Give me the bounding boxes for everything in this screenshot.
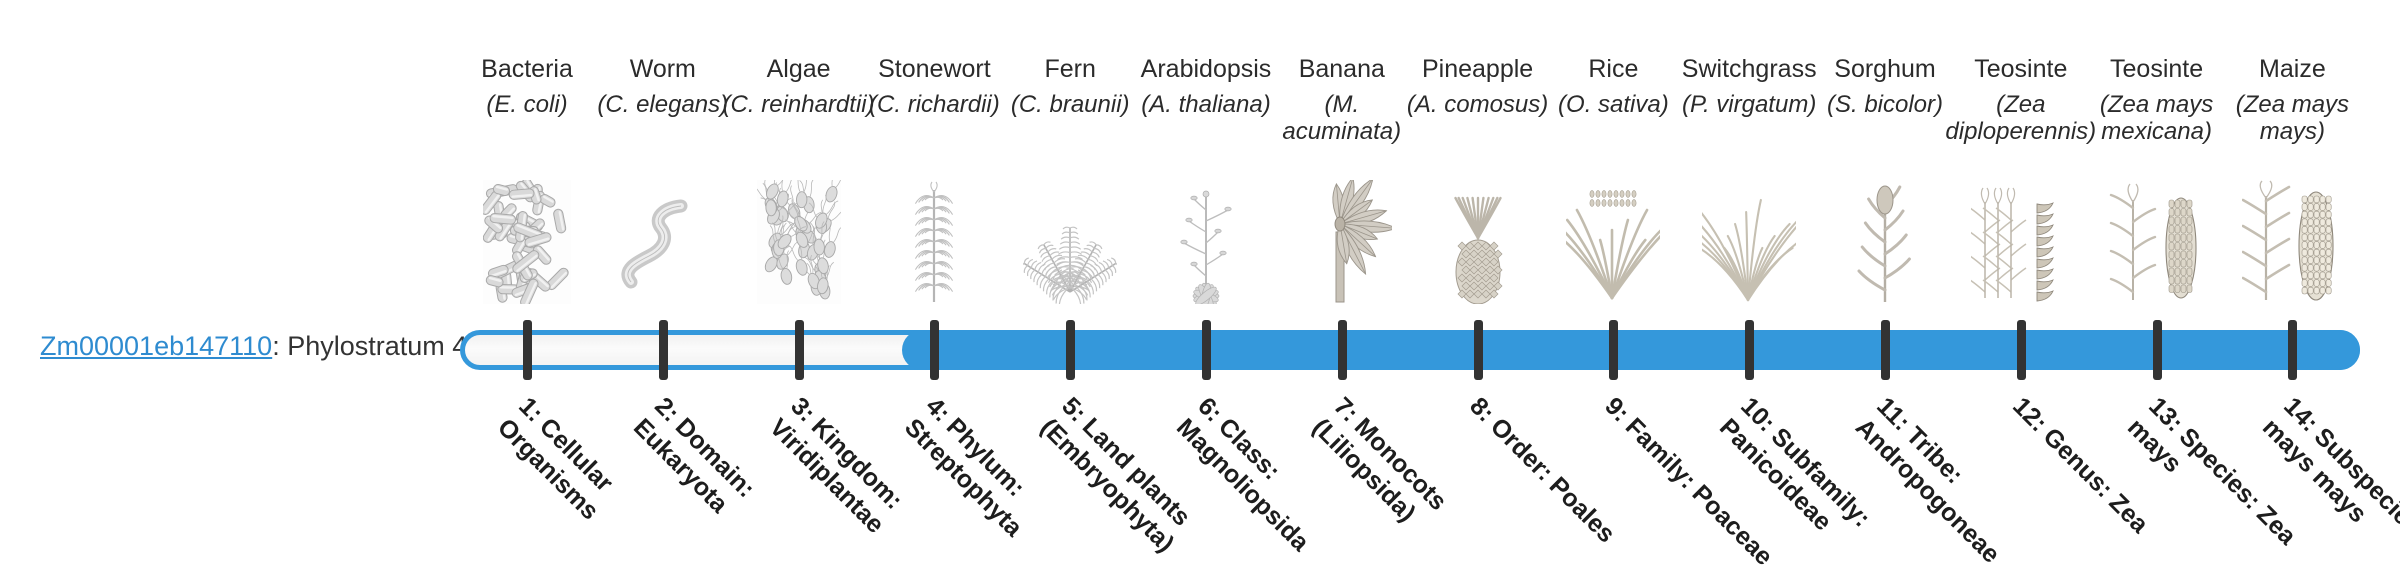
phylostratum-tick-14 <box>2288 320 2297 380</box>
phylostratum-column-7[interactable]: Banana(M. acuminata)7: Monocots (Liliops… <box>1274 0 1410 580</box>
phylostratum-column-10[interactable]: Switchgrass(P. virgatum)10: Subfamily: P… <box>1681 0 1817 580</box>
pineapple-illustration <box>1410 172 1546 304</box>
phylostratum-figure: Zm00001eb147110: Phylostratum 4 Bacteria… <box>0 0 2400 580</box>
phylostratum-columns: Bacteria(E. coli)1: Cellular OrganismsWo… <box>0 0 2400 580</box>
phylostratum-rank-label-14: 14: Subspecies: Zea mays mays <box>2257 392 2400 580</box>
phylostratum-tick-8 <box>1474 320 1483 380</box>
phylostratum-column-4[interactable]: Stonewort(C. richardii)4: Phylum: Strept… <box>866 0 1002 580</box>
phylostratum-column-14[interactable]: Maize(Zea mays mays)14: Subspecies: Zea … <box>2224 0 2360 580</box>
teosinte-mexicana-illustration <box>2089 172 2225 304</box>
arabidopsis-illustration <box>1138 172 1274 304</box>
nematode-worm-illustration <box>595 172 731 304</box>
maize-plant-and-cob-illustration <box>2224 172 2360 304</box>
phylostratum-column-8[interactable]: Pineapple(A. comosus)8: Order: Poales <box>1410 0 1546 580</box>
phylostratum-tick-12 <box>2017 320 2026 380</box>
switchgrass-illustration <box>1681 172 1817 304</box>
phylostratum-tick-2 <box>659 320 668 380</box>
phylostratum-tick-3 <box>795 320 804 380</box>
stonewort-illustration <box>866 172 1002 304</box>
phylostratum-column-6[interactable]: Arabidopsis(A. thaliana)6: Class: Magnol… <box>1138 0 1274 580</box>
teosinte-plant-and-ear-illustration <box>1953 172 2089 304</box>
rice-plant-illustration <box>1545 172 1681 304</box>
bacteria-illustration <box>459 172 595 304</box>
phylostratum-column-5[interactable]: Fern(C. braunii)5: Land plants (Embryoph… <box>1002 0 1138 580</box>
phylostratum-tick-11 <box>1881 320 1890 380</box>
banana-plant-illustration <box>1274 172 1410 304</box>
phylostratum-column-12[interactable]: Teosinte(Zea diploperennis)12: Genus: Ze… <box>1953 0 2089 580</box>
phylostratum-column-9[interactable]: Rice(O. sativa)9: Family: Poaceae <box>1545 0 1681 580</box>
phylostratum-column-3[interactable]: Algae(C. reinhardtii)3: Kingdom: Viridip… <box>731 0 867 580</box>
phylostratum-tick-10 <box>1745 320 1754 380</box>
phylostratum-tick-7 <box>1338 320 1347 380</box>
phylostratum-column-2[interactable]: Worm(C. elegans)2: Domain: Eukaryota <box>595 0 731 580</box>
phylostratum-column-13[interactable]: Teosinte(Zea mays mexicana)13: Species: … <box>2089 0 2225 580</box>
phylostratum-tick-5 <box>1066 320 1075 380</box>
green-algae-illustration <box>731 172 867 304</box>
phylostratum-tick-13 <box>2153 320 2162 380</box>
phylostratum-tick-1 <box>523 320 532 380</box>
phylostratum-column-1[interactable]: Bacteria(E. coli)1: Cellular Organisms <box>459 0 595 580</box>
fern-illustration <box>1002 172 1138 304</box>
species-common-name: Maize <box>2210 55 2374 84</box>
phylostratum-tick-4 <box>930 320 939 380</box>
species-scientific-name: (Zea mays mays) <box>2212 92 2372 146</box>
phylostratum-column-11[interactable]: Sorghum(S. bicolor)11: Tribe: Andropogon… <box>1817 0 1953 580</box>
sorghum-illustration <box>1817 172 1953 304</box>
phylostratum-tick-9 <box>1609 320 1618 380</box>
phylostratum-tick-6 <box>1202 320 1211 380</box>
